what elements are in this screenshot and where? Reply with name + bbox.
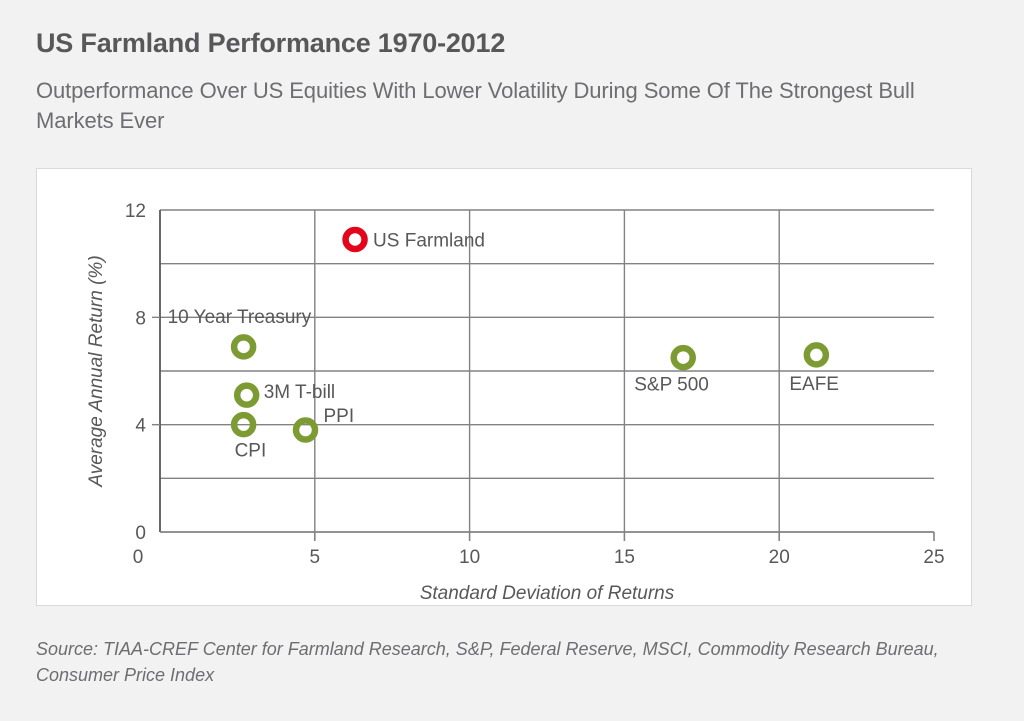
chart-card: 051015202504812 US Farmland10 Year Treas… <box>36 168 972 606</box>
data-point[interactable]: US Farmland <box>346 230 485 252</box>
data-point[interactable]: 10 Year Treasury <box>168 307 312 357</box>
y-axis-tick-label: 0 <box>135 523 146 544</box>
data-point[interactable]: S&P 500 <box>634 348 709 396</box>
data-point[interactable]: EAFE <box>789 345 839 395</box>
x-axis-tick-label: 25 <box>923 547 944 568</box>
page-subtitle: Outperformance Over US Equities With Low… <box>36 76 986 137</box>
page-title: US Farmland Performance 1970-2012 <box>36 28 505 59</box>
x-axis-tick-label: 10 <box>459 547 480 568</box>
x-axis-title: Standard Deviation of Returns <box>420 583 675 604</box>
data-point-marker[interactable] <box>237 386 256 405</box>
x-axis-tick-label: 5 <box>310 547 321 568</box>
x-axis-tick-label: 20 <box>769 547 790 568</box>
y-axis-tick-label: 4 <box>135 416 146 437</box>
y-axis-title: Average Annual Return (%) <box>86 255 107 487</box>
y-axis-tick-label: 8 <box>135 308 146 329</box>
data-point-marker[interactable] <box>296 421 315 440</box>
data-point-marker[interactable] <box>807 345 826 364</box>
grid-layer <box>160 210 934 532</box>
x-axis-tick-label: 15 <box>614 547 635 568</box>
data-point-label: 10 Year Treasury <box>168 307 312 328</box>
x-axis-tick-label: 0 <box>133 547 144 568</box>
data-point-label: S&P 500 <box>634 375 709 396</box>
data-point-label: US Farmland <box>373 231 485 252</box>
data-point-marker[interactable] <box>234 337 253 356</box>
data-point-marker[interactable] <box>674 348 693 367</box>
data-point-label: 3M T-bill <box>264 382 335 403</box>
data-point-label: PPI <box>324 406 355 427</box>
data-point[interactable]: CPI <box>234 415 266 461</box>
data-point[interactable]: 3M T-bill <box>237 382 335 405</box>
data-point-marker[interactable] <box>346 230 365 249</box>
data-point[interactable]: PPI <box>296 406 354 440</box>
data-point-label: EAFE <box>789 374 839 395</box>
y-axis-tick-label: 12 <box>125 201 146 222</box>
chart-page: US Farmland Performance 1970-2012 Outper… <box>0 0 1024 721</box>
data-point-label: CPI <box>235 441 267 462</box>
scatter-plot: 051015202504812 US Farmland10 Year Treas… <box>37 169 971 605</box>
source-note: Source: TIAA-CREF Center for Farmland Re… <box>36 636 976 688</box>
data-points-layer: US Farmland10 Year Treasury3M T-billCPIP… <box>168 230 839 462</box>
